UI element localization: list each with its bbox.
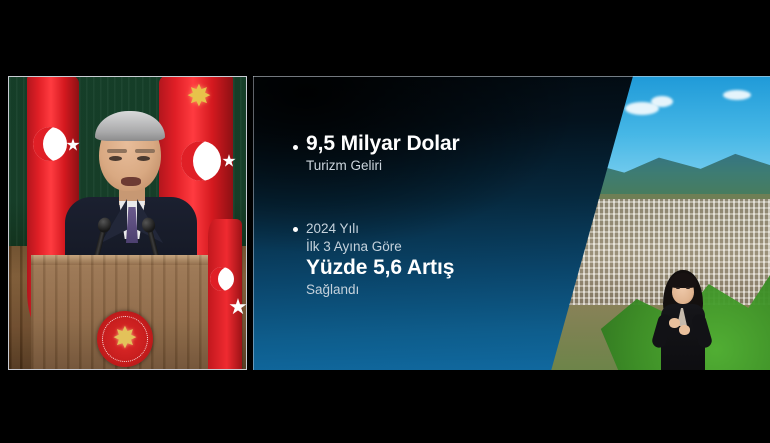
cloud: [723, 90, 751, 100]
press-conference-photo: ★ ✸ ★ ✸: [8, 76, 247, 370]
presenter-hand: [679, 325, 690, 335]
stat-subline: Sağlandı: [293, 281, 573, 299]
speaker-hair: [95, 111, 165, 141]
presenter-eye: [676, 287, 680, 289]
presidential-seal-icon: ✸: [97, 311, 153, 367]
screenshot-frame: ★ ✸ ★ ✸: [0, 0, 770, 443]
speaker-eye: [109, 156, 122, 161]
cloud: [651, 96, 673, 107]
speaker-mouth: [121, 177, 141, 186]
podium: ✸: [31, 255, 219, 370]
presenter-eye: [686, 287, 690, 289]
speaker-eye: [137, 156, 150, 161]
panel-left-border: [253, 76, 254, 370]
turkish-flag-corner: ★: [208, 219, 242, 369]
panel-top-border: [253, 76, 770, 77]
stat-subline: İlk 3 Ayına Göre: [293, 238, 573, 256]
crescent-icon: [33, 127, 67, 161]
stat-subline: Turizm Geliri: [293, 157, 573, 175]
speaker-brow: [107, 149, 127, 153]
star-icon: ★: [228, 296, 247, 318]
stat-subline: 2024 Yılı: [293, 220, 573, 238]
tourism-stats-list: 9,5 Milyar Dolar Turizm Geliri 2024 Yılı…: [293, 132, 573, 299]
news-presenter: [651, 270, 713, 370]
tourism-infographic: 9,5 Milyar Dolar Turizm Geliri 2024 Yılı…: [253, 76, 770, 370]
presenter-hand: [669, 318, 680, 328]
stat-headline: 9,5 Milyar Dolar: [293, 132, 573, 157]
sunburst-icon: ✸: [112, 324, 137, 354]
stat-block-tourism-revenue: 9,5 Milyar Dolar Turizm Geliri: [293, 132, 573, 174]
stat-block-growth-rate: 2024 Yılı İlk 3 Ayına Göre Yüzde 5,6 Art…: [293, 220, 573, 298]
bullet-icon: [293, 145, 298, 150]
stat-headline: Yüzde 5,6 Artış: [293, 256, 573, 281]
presidential-sunburst-icon: ✸: [186, 82, 211, 112]
crescent-icon: [210, 267, 234, 291]
star-icon: ★: [221, 153, 236, 170]
speaker-brow: [135, 149, 155, 153]
